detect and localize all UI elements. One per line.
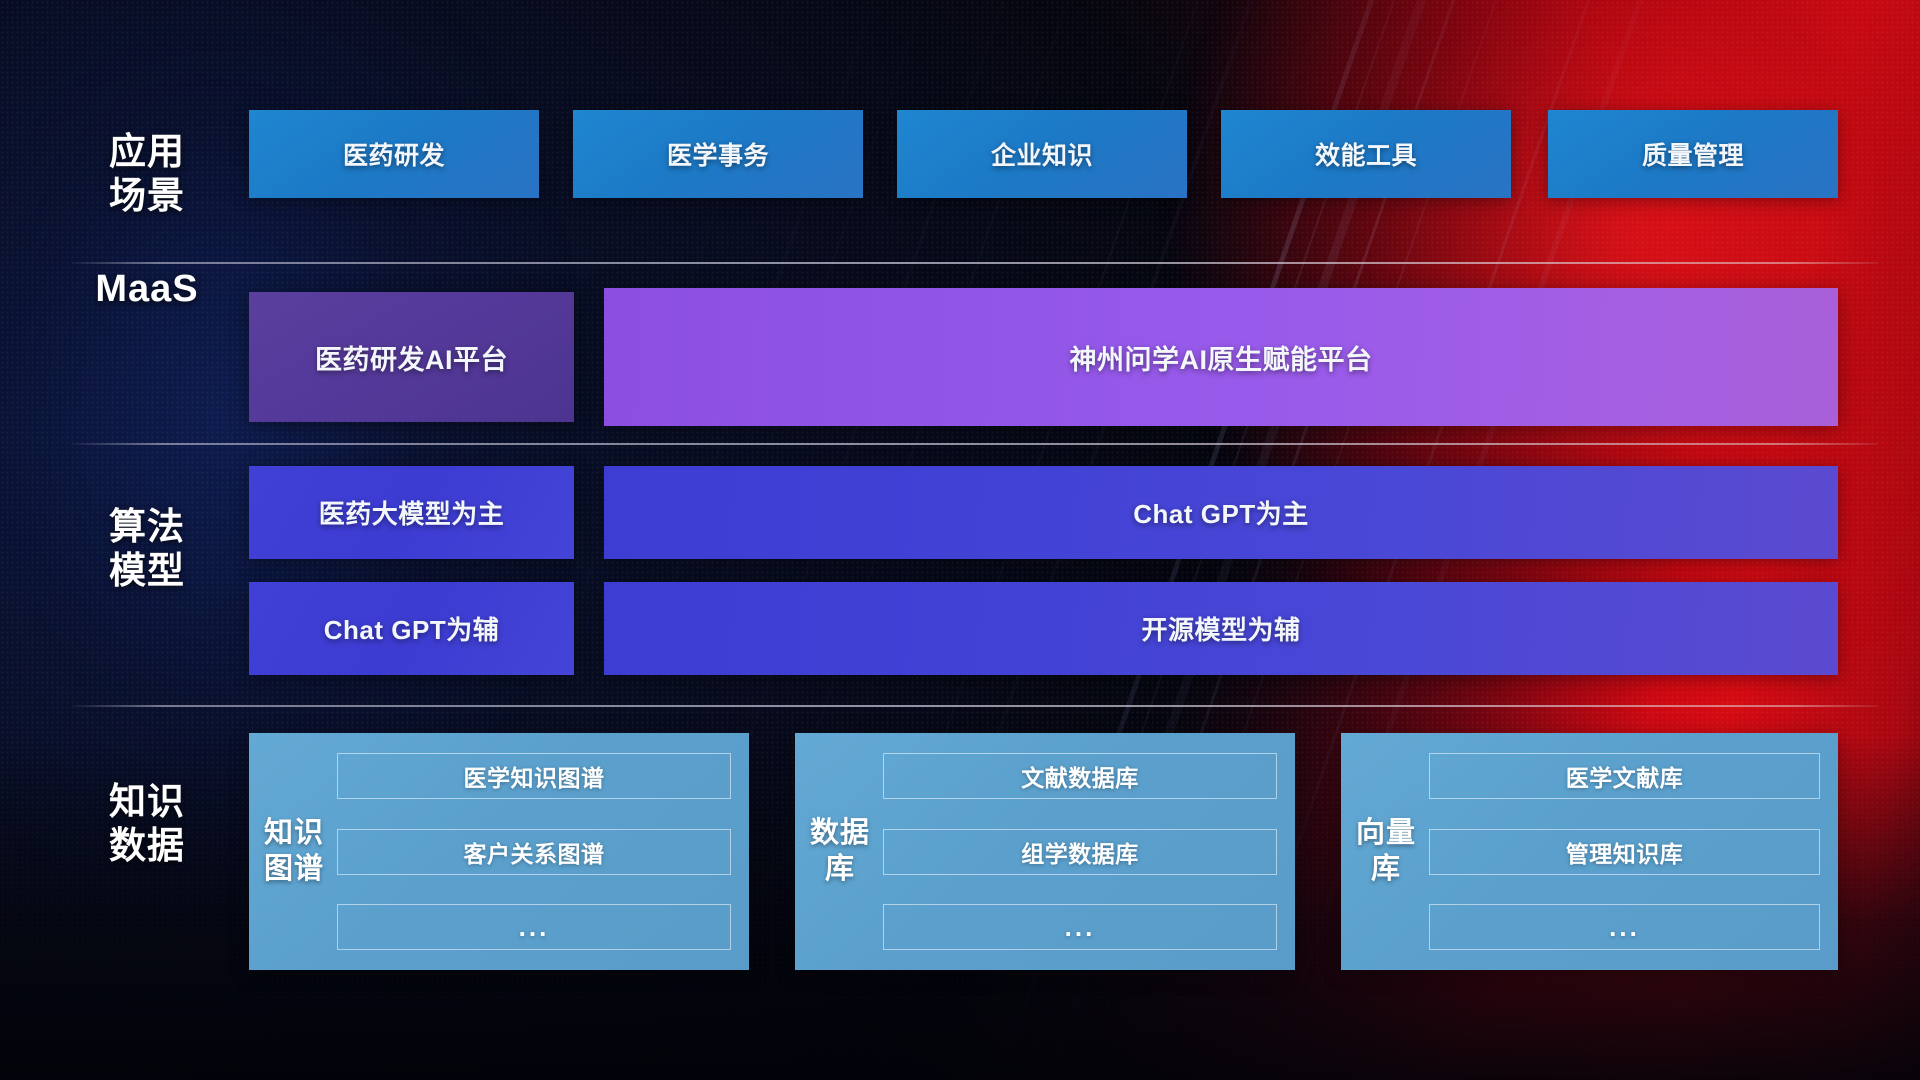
application-scenario-box[interactable]: 医学事务 xyxy=(573,110,863,198)
knowledge-card-title: 向量 库 xyxy=(1355,816,1417,887)
knowledge-card-title: 数据 库 xyxy=(809,816,871,887)
application-scenario-box[interactable]: 医药研发 xyxy=(249,110,539,198)
knowledge-data-card[interactable]: 数据 库文献数据库组学数据库... xyxy=(795,733,1295,970)
knowledge-card-title: 知识 图谱 xyxy=(263,816,325,887)
knowledge-card-item-more[interactable]: ... xyxy=(337,904,731,950)
maas-right-label: 神州问学AI原生赋能平台 xyxy=(1070,338,1373,377)
knowledge-card-item[interactable]: 医学知识图谱 xyxy=(337,753,731,799)
algorithm-left-primary-label: 医药大模型为主 xyxy=(319,494,505,531)
application-scenario-box[interactable]: 质量管理 xyxy=(1548,110,1838,198)
divider-algorithm-knowledge xyxy=(72,705,1878,707)
knowledge-card-item[interactable]: 客户关系图谱 xyxy=(337,829,731,875)
algorithm-box-right-primary[interactable]: Chat GPT为主 xyxy=(604,466,1838,559)
divider-application-maas xyxy=(72,262,1878,264)
row-label-knowledge-data: 知识 数据 xyxy=(72,780,222,867)
knowledge-card-item[interactable]: 文献数据库 xyxy=(883,753,1277,799)
knowledge-card-item-list: 医学文献库管理知识库... xyxy=(1417,747,1820,956)
divider-maas-algorithm xyxy=(72,443,1878,445)
application-scenario-box[interactable]: 企业知识 xyxy=(897,110,1187,198)
knowledge-card-item-list: 文献数据库组学数据库... xyxy=(871,747,1277,956)
application-scenario-label: 质量管理 xyxy=(1642,136,1744,172)
algorithm-box-left-primary[interactable]: 医药大模型为主 xyxy=(249,466,574,559)
application-scenario-label: 医学事务 xyxy=(667,136,769,172)
row-label-application-scenario: 应用 场景 xyxy=(72,130,222,217)
algorithm-box-left-secondary[interactable]: Chat GPT为辅 xyxy=(249,582,574,675)
knowledge-data-card[interactable]: 知识 图谱医学知识图谱客户关系图谱... xyxy=(249,733,749,970)
knowledge-card-item-more[interactable]: ... xyxy=(883,904,1277,950)
row-label-maas: MaaS xyxy=(72,267,222,312)
knowledge-card-item[interactable]: 组学数据库 xyxy=(883,829,1277,875)
knowledge-card-item-more[interactable]: ... xyxy=(1429,904,1820,950)
row-label-algorithm-model: 算法 模型 xyxy=(72,505,222,592)
application-scenario-label: 医药研发 xyxy=(343,136,445,172)
knowledge-card-item[interactable]: 管理知识库 xyxy=(1429,829,1820,875)
algorithm-left-secondary-label: Chat GPT为辅 xyxy=(324,610,499,647)
application-scenario-box[interactable]: 效能工具 xyxy=(1221,110,1511,198)
algorithm-right-primary-label: Chat GPT为主 xyxy=(1133,494,1308,531)
maas-platform-box-medical[interactable]: 医药研发AI平台 xyxy=(249,292,574,422)
architecture-diagram: 应用 场景 医药研发医学事务企业知识效能工具质量管理 MaaS 医药研发AI平台… xyxy=(0,0,1920,1080)
knowledge-data-card[interactable]: 向量 库医学文献库管理知识库... xyxy=(1341,733,1838,970)
maas-platform-box-shenzhou[interactable]: 神州问学AI原生赋能平台 xyxy=(604,288,1838,426)
application-scenario-label: 效能工具 xyxy=(1315,136,1417,172)
algorithm-right-secondary-label: 开源模型为辅 xyxy=(1141,610,1300,647)
algorithm-box-right-secondary[interactable]: 开源模型为辅 xyxy=(604,582,1838,675)
knowledge-card-item[interactable]: 医学文献库 xyxy=(1429,753,1820,799)
maas-left-label: 医药研发AI平台 xyxy=(315,338,508,377)
knowledge-card-item-list: 医学知识图谱客户关系图谱... xyxy=(325,747,731,956)
application-scenario-label: 企业知识 xyxy=(991,136,1093,172)
